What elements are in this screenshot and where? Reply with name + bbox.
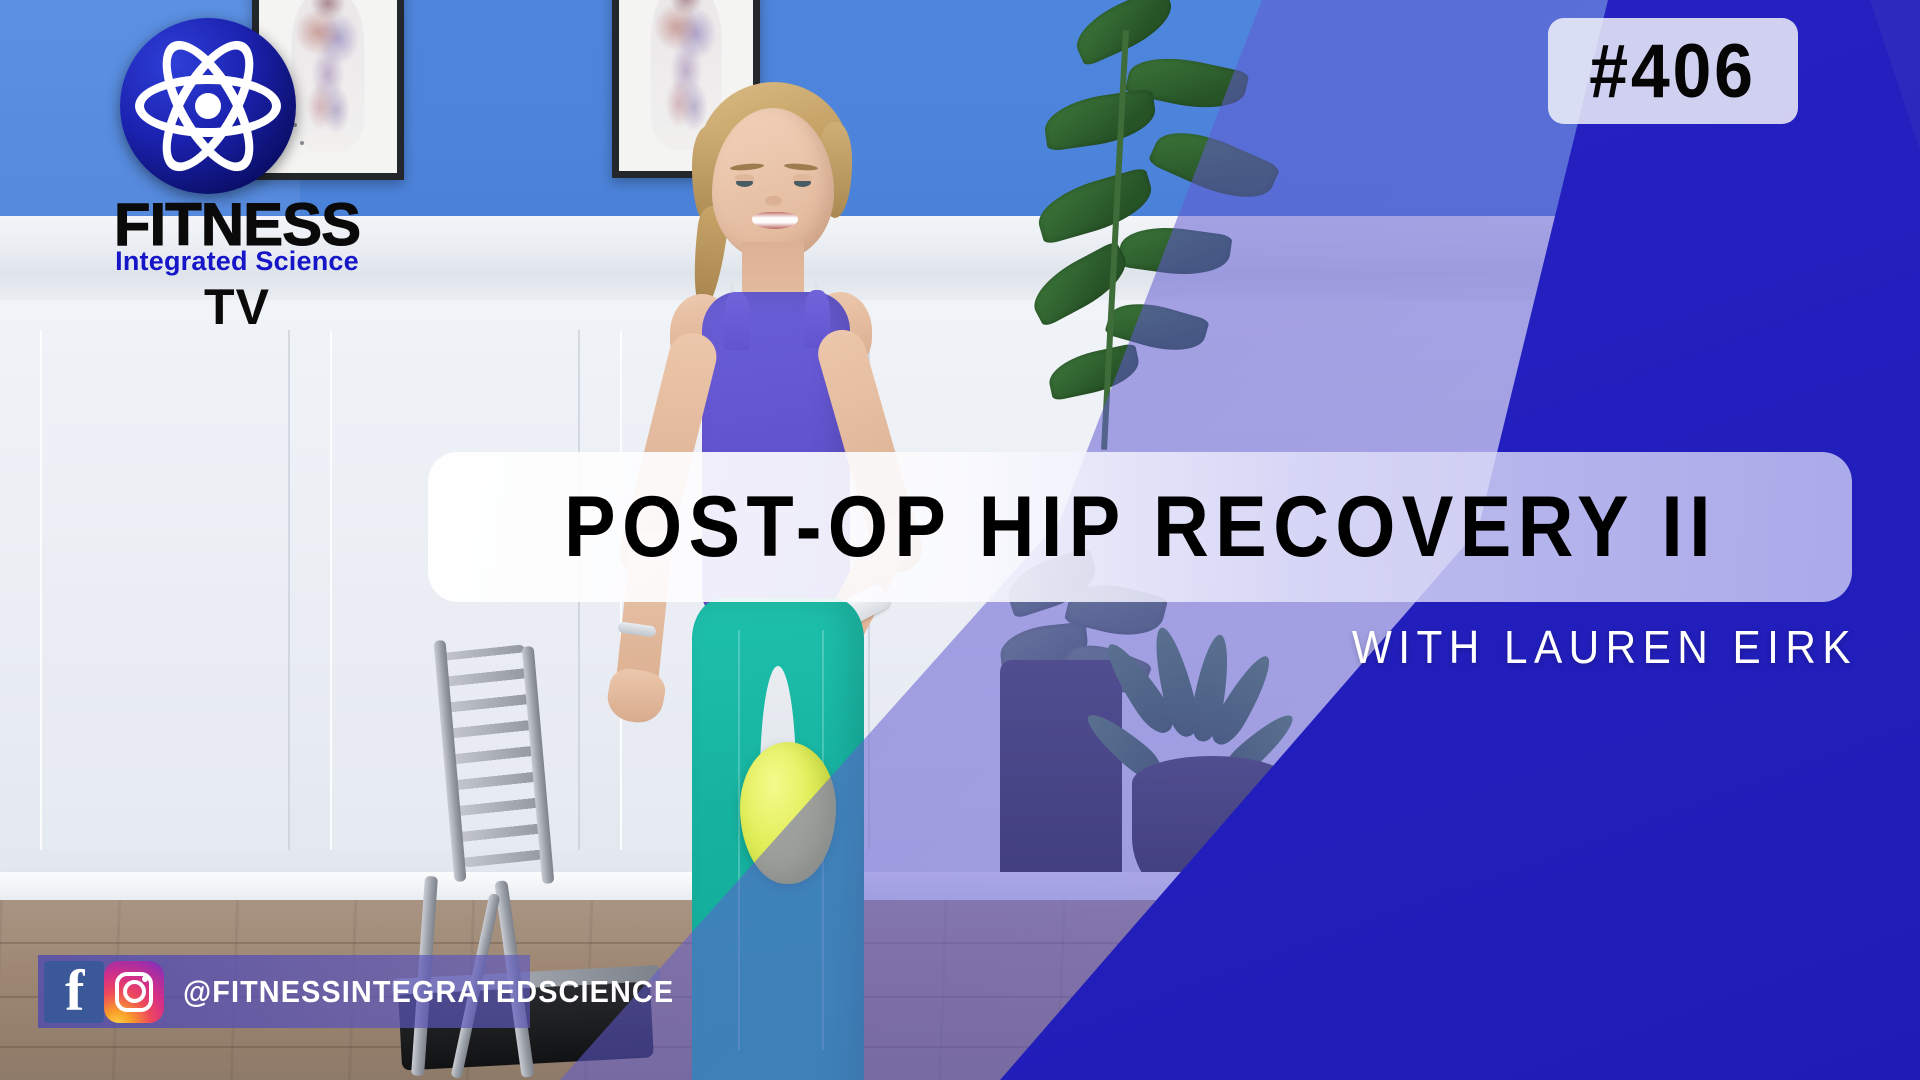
episode-number-label: #406 [1590, 28, 1757, 115]
video-title-bar: POST-OP HIP RECOVERY II [428, 452, 1852, 602]
brand-suffix: TV [92, 278, 382, 336]
facebook-icon[interactable] [44, 961, 104, 1023]
atom-icon [120, 18, 296, 194]
presenter-subtitle: WITH LAUREN EIRK [1352, 620, 1857, 674]
channel-logo[interactable]: FITNESS Integrated Science TV [92, 14, 382, 326]
wall-panel-1 [40, 330, 290, 850]
social-handle-bar[interactable]: @FITNESSINTEGRATEDSCIENCE [38, 955, 530, 1028]
brand-tagline: Integrated Science [92, 246, 382, 277]
pilates-ball [740, 742, 836, 884]
video-title: POST-OP HIP RECOVERY II [564, 478, 1717, 577]
instagram-icon[interactable] [104, 961, 164, 1023]
social-handle-text: @FITNESSINTEGRATEDSCIENCE [183, 974, 674, 1010]
thumbnail-canvas: FITNESS Integrated Science TV #406 POST-… [0, 0, 1920, 1080]
episode-number-badge: #406 [1548, 18, 1798, 124]
